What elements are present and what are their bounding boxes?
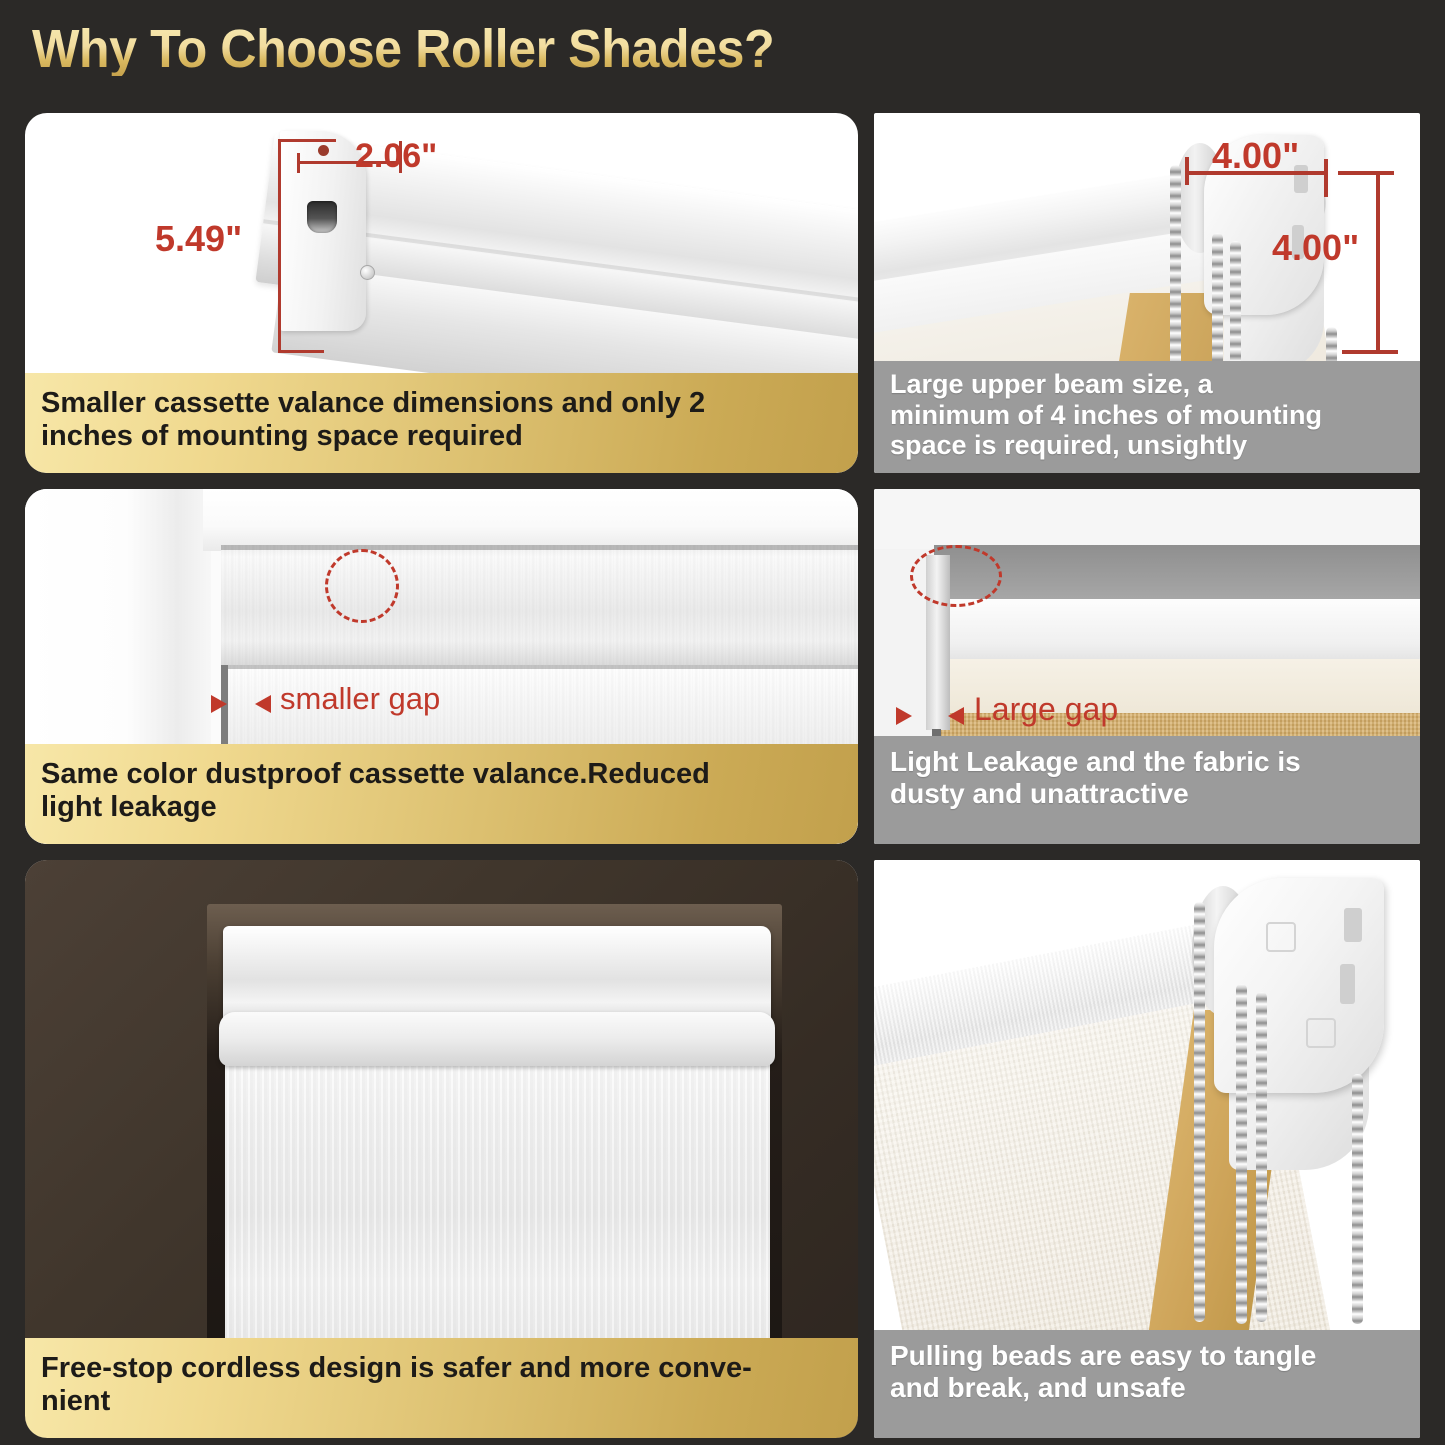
caption-line-2: minimum of 4 inches of mounting xyxy=(890,400,1404,431)
bead-chain-1 xyxy=(1194,902,1205,1322)
panel-large-upper-beam: 4.00" 4.00" Large upper beam size, a min… xyxy=(874,113,1420,473)
dashed-circle-callout xyxy=(910,545,1002,607)
comparison-grid: 5.49" 2.06" Smaller cassette valance dim… xyxy=(0,0,1445,1445)
bead-chain-3 xyxy=(1256,992,1267,1322)
upper-beam xyxy=(932,599,1420,663)
valance-screw xyxy=(360,265,375,280)
caption-line-1: Free-stop cordless design is safer and m… xyxy=(41,1352,842,1385)
valance-texture xyxy=(221,545,858,665)
bracket-notch-2 xyxy=(1340,964,1355,1004)
caption-line-2: light leakage xyxy=(41,791,842,824)
caption-line-1: Same color dustproof cassette valance.Re… xyxy=(41,758,842,791)
panel-light-leakage-dusty-fabric: Large gap Light Leakage and the fabric i… xyxy=(874,489,1420,844)
gap-arrow-right xyxy=(255,695,271,713)
caption-cassette-valance-dimensions: Smaller cassette valance dimensions and … xyxy=(25,373,858,473)
bracket-arrow-icon-1 xyxy=(1266,922,1296,952)
valance-red-dot xyxy=(318,145,329,156)
caption-line-2: dusty and unattractive xyxy=(890,778,1404,810)
gap-arrow-left xyxy=(211,695,227,713)
gap-arrow-right xyxy=(948,707,964,725)
gap-callout-label: smaller gap xyxy=(280,681,440,717)
caption-line-1: Smaller cassette valance dimensions and … xyxy=(41,387,842,420)
panel-dustproof-cassette-valance: smaller gap Same color dustproof cassett… xyxy=(25,489,858,844)
caption-large-upper-beam: Large upper beam size, a minimum of 4 in… xyxy=(874,361,1420,473)
height-dimension-tick-top xyxy=(278,139,336,142)
beam-height-label: 4.00" xyxy=(1272,227,1359,269)
height-dimension-label: 5.49" xyxy=(155,218,242,260)
bead-chain-2 xyxy=(1236,984,1247,1324)
bracket-arrow-icon-2 xyxy=(1306,1018,1336,1048)
caption-line-3: space is required, unsightly xyxy=(890,430,1404,461)
shadow-band xyxy=(934,545,1420,603)
width-dimension-label: 2.06" xyxy=(355,137,437,176)
caption-line-1: Pulling beads are easy to tangle xyxy=(890,1340,1404,1372)
shade-fabric xyxy=(225,1060,770,1378)
beam-height-line xyxy=(1376,171,1380,353)
panel-free-stop-cordless-design: Free-stop cordless design is safer and m… xyxy=(25,860,858,1438)
panel-cassette-valance-dimensions: 5.49" 2.06" Smaller cassette valance dim… xyxy=(25,113,858,473)
caption-free-stop-cordless-design: Free-stop cordless design is safer and m… xyxy=(25,1338,858,1438)
beam-width-tick-left xyxy=(1185,157,1189,185)
width-dimension-tick-left xyxy=(297,153,300,173)
ceiling-area xyxy=(874,489,1420,549)
caption-line-1: Large upper beam size, a xyxy=(890,369,1404,400)
height-dimension-line xyxy=(278,139,281,353)
caption-pulling-beads-unsafe: Pulling beads are easy to tangle and bre… xyxy=(874,1330,1420,1438)
gap-arrow-left xyxy=(896,707,912,725)
dashed-circle-callout xyxy=(325,549,399,623)
caption-line-2: inches of mounting space required xyxy=(41,420,842,453)
panel-pulling-beads-unsafe: Pulling beads are easy to tangle and bre… xyxy=(874,860,1420,1438)
bead-chain-4 xyxy=(1352,1074,1363,1324)
beam-height-tick-bottom xyxy=(1342,350,1398,354)
cassette-valance xyxy=(223,926,771,1024)
valance-slot xyxy=(307,201,337,233)
caption-line-1: Light Leakage and the fabric is xyxy=(890,746,1404,778)
valance-lip xyxy=(219,1012,775,1066)
beam-height-tick-top xyxy=(1338,171,1394,175)
height-dimension-tick-bottom xyxy=(278,350,324,353)
caption-light-leakage-dusty-fabric: Light Leakage and the fabric is dusty an… xyxy=(874,736,1420,844)
beam-width-label: 4.00" xyxy=(1212,135,1299,177)
caption-line-2: and break, and unsafe xyxy=(890,1372,1404,1404)
caption-dustproof-cassette-valance: Same color dustproof cassette valance.Re… xyxy=(25,744,858,844)
cassette-valance xyxy=(221,545,858,665)
gap-callout-label: Large gap xyxy=(974,691,1118,728)
caption-line-2: nient xyxy=(41,1385,842,1418)
window-frame-top xyxy=(203,489,858,551)
bracket-notch-1 xyxy=(1344,908,1362,942)
beam-width-tick-right xyxy=(1324,159,1328,197)
